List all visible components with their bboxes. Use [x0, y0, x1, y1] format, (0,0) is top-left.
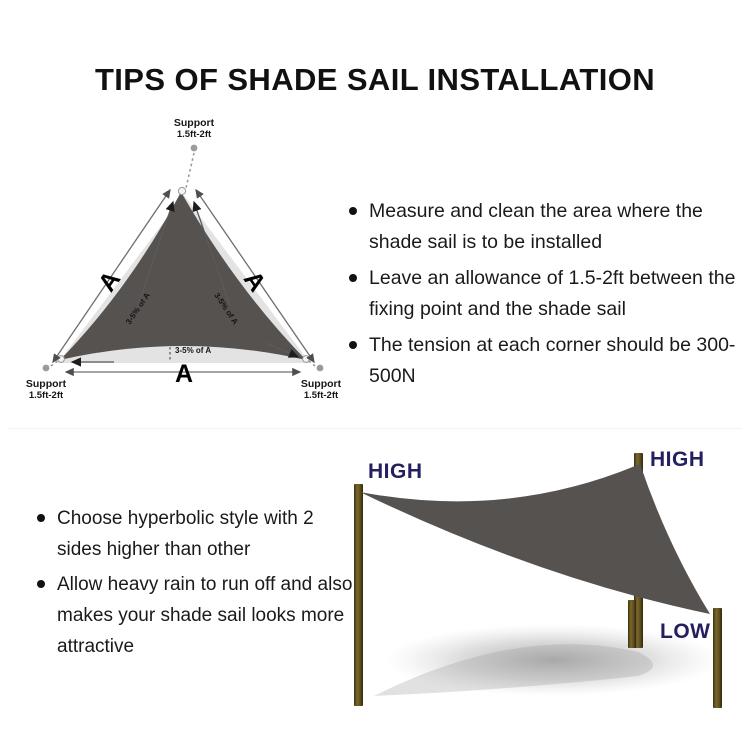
bullet-dot-icon — [37, 514, 45, 522]
dimension-bottom-curve-note: 3-5% of A — [175, 346, 211, 355]
list-item: The tension at each corner should be 300… — [348, 330, 740, 392]
support-bottom-right-anchor-dot — [317, 365, 324, 372]
support-bottom-right-label: Support — [301, 378, 342, 390]
support-top: Support 1.5ft-2ft — [174, 117, 215, 195]
support-top-anchor-dot — [191, 145, 198, 152]
support-bottom-right: Support 1.5ft-2ft — [301, 356, 342, 401]
list-item-text: Choose hyperbolic style with 2 sides hig… — [57, 508, 314, 560]
support-bottom-right-clearance: 1.5ft-2ft — [304, 390, 339, 401]
support-top-label: Support — [174, 117, 215, 129]
support-top-tether — [186, 153, 194, 188]
installation-tips-list: Measure and clean the area where the sha… — [348, 196, 740, 392]
list-item: Measure and clean the area where the sha… — [348, 196, 740, 258]
corner-label-low: LOW — [660, 620, 710, 643]
list-item: Choose hyperbolic style with 2 sides hig… — [36, 503, 356, 565]
fixing-point-bottom-left — [58, 356, 65, 363]
support-bottom-left: Support 1.5ft-2ft — [26, 356, 67, 401]
post-bottom-right — [713, 608, 722, 708]
support-bottom-left-label: Support — [26, 378, 67, 390]
bullet-dot-icon — [349, 207, 357, 215]
corner-label-high-right: HIGH — [650, 448, 705, 471]
bottom-tips-panel: Choose hyperbolic style with 2 sides hig… — [36, 503, 356, 666]
support-bottom-left-clearance: 1.5ft-2ft — [29, 390, 64, 401]
triangle-diagram: Support 1.5ft-2ft Support 1.5ft-2ft Supp… — [18, 110, 348, 410]
sail-diagram-svg: HIGH HIGH LOW — [338, 428, 750, 728]
sail-diagram: HIGH HIGH LOW — [338, 428, 750, 728]
hyperbolic-style-tips-list: Choose hyperbolic style with 2 sides hig… — [36, 503, 356, 662]
bullet-dot-icon — [349, 274, 357, 282]
support-bottom-left-anchor-dot — [43, 365, 50, 372]
dimension-bottom-label: A — [175, 360, 193, 388]
support-top-clearance: 1.5ft-2ft — [177, 129, 212, 140]
triangle-diagram-svg: Support 1.5ft-2ft Support 1.5ft-2ft Supp… — [18, 110, 348, 410]
list-item: Leave an allowance of 1.5-2ft between th… — [348, 263, 740, 325]
list-item-text: Allow heavy rain to run off and also mak… — [57, 574, 352, 657]
post-left — [354, 484, 363, 706]
list-item-text: Leave an allowance of 1.5-2ft between th… — [369, 267, 735, 320]
list-item: Allow heavy rain to run off and also mak… — [36, 569, 356, 662]
top-tips-panel: Measure and clean the area where the sha… — [348, 196, 740, 397]
fixing-point-bottom-right — [303, 356, 310, 363]
bullet-dot-icon — [349, 341, 357, 349]
list-item-text: The tension at each corner should be 300… — [369, 334, 735, 387]
infographic-page: TIPS OF SHADE SAIL INSTALLATION S — [0, 0, 750, 750]
corner-label-high-left: HIGH — [368, 460, 423, 483]
fixing-point-top — [178, 187, 185, 194]
bullet-dot-icon — [37, 580, 45, 588]
page-title: TIPS OF SHADE SAIL INSTALLATION — [0, 62, 750, 98]
hyperbolic-sail-body — [360, 464, 710, 614]
list-item-text: Measure and clean the area where the sha… — [369, 200, 703, 253]
post-middle-right — [628, 600, 636, 648]
